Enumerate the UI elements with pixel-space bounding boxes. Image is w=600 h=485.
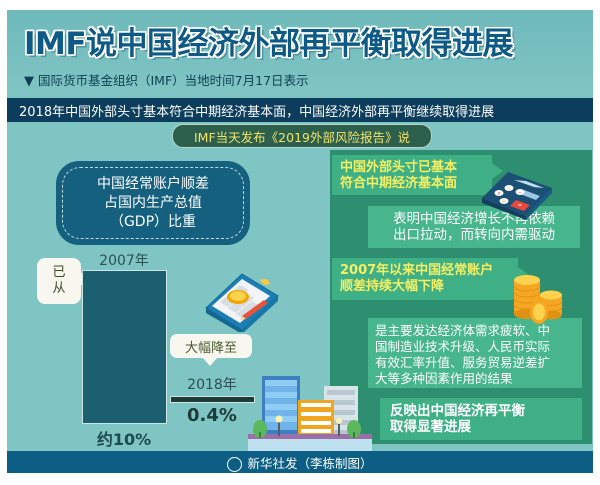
right-box-d-line4: 大等多种因素作用的结果 xyxy=(375,371,575,387)
right-box-c-line1: 2007年以来中国经常账户 xyxy=(340,263,510,279)
from-label-line1: 已 xyxy=(52,265,65,281)
right-box-a-line1: 中国外部头寸已基本 xyxy=(340,160,484,176)
svg-text:−: − xyxy=(518,190,522,196)
right-box-e-line2: 取得显著进展 xyxy=(390,419,572,435)
bar-2007 xyxy=(82,270,167,424)
bar-value-2018: 0.4% xyxy=(167,405,257,426)
caption-line-1: 中国经常账户顺差 xyxy=(97,175,209,194)
bar-value-2007: 约10% xyxy=(74,426,174,450)
svg-text:÷: ÷ xyxy=(507,186,511,192)
annotation-drop-bubble: 大幅降至 xyxy=(170,334,252,358)
credit-text: 新华社发（李栋制图） xyxy=(247,453,372,472)
right-box-c-line2: 顺差持续大幅下降 xyxy=(340,279,510,295)
drop-label: 大幅降至 xyxy=(185,337,237,356)
right-box-b-line2: 出口拉动，而转向内需驱动 xyxy=(376,227,572,243)
right-box-c: 2007年以来中国经常账户 顺差持续大幅下降 xyxy=(332,258,518,300)
source-line: ▼国际货币基金组织（IMF）当地时间7月17日表示 xyxy=(24,70,309,89)
right-box-d: 是主要发达经济体需求疲软、中 国制造业技术升级、人民币实际 有效汇率升值、服务贸… xyxy=(368,318,582,388)
source-text: 国际货币基金组织（IMF）当地时间7月17日表示 xyxy=(38,73,309,88)
right-box-e-line1: 反映出中国经济再平衡 xyxy=(390,403,572,419)
footer-credit-bar: 新华社发（李栋制图） xyxy=(7,451,593,473)
right-box-a: 中国外部头寸已基本 符合中期经济基本面 xyxy=(332,155,492,195)
from-label-line2: 从 xyxy=(52,281,65,297)
edge-left xyxy=(0,0,7,485)
svg-text:+: + xyxy=(502,199,506,205)
svg-text:=: = xyxy=(518,203,522,209)
coin-stack-icon xyxy=(500,266,570,328)
bar-label-2018: 2018年 xyxy=(167,374,257,394)
page-title: IMF说中国经济外部再平衡取得进展 xyxy=(24,18,584,63)
right-box-d-line2: 国制造业技术升级、人民币实际 xyxy=(375,339,575,355)
caption-line-2: 占国内生产总值 xyxy=(104,194,202,213)
right-box-d-line3: 有效汇率升值、服务贸易逆差扩 xyxy=(375,355,575,371)
down-arrow-icon: ▼ xyxy=(24,74,34,89)
chart-caption-box: 中国经常账户顺差 占国内生产总值 （GDP）比重 xyxy=(57,162,249,244)
edge-bottom xyxy=(0,473,600,485)
right-box-a-line2: 符合中期经济基本面 xyxy=(340,176,484,192)
report-pill: IMF当天发布《2019外部风险报告》说 xyxy=(172,124,432,148)
statement-bar: 2018年中国外部头寸基本符合中期经济基本面，中国经济外部再平衡继续取得进展 xyxy=(7,98,593,122)
edge-right xyxy=(593,0,600,485)
clipboard-coin-icon xyxy=(188,270,283,332)
bar-label-2007: 2007年 xyxy=(74,250,174,270)
bar-2018 xyxy=(170,396,255,403)
xinhua-logo-icon xyxy=(227,457,242,472)
svg-text:×: × xyxy=(497,191,501,197)
infographic-poster: IMF说中国经济外部再平衡取得进展 ▼国际货币基金组织（IMF）当地时间7月17… xyxy=(0,0,600,485)
caption-line-3: （GDP）比重 xyxy=(110,213,196,232)
right-box-e: 反映出中国经济再平衡 取得显著进展 xyxy=(380,398,582,440)
edge-top xyxy=(0,0,600,10)
city-skyline-icon xyxy=(248,372,372,451)
calculator-icon: × ÷ − + = xyxy=(478,168,556,220)
